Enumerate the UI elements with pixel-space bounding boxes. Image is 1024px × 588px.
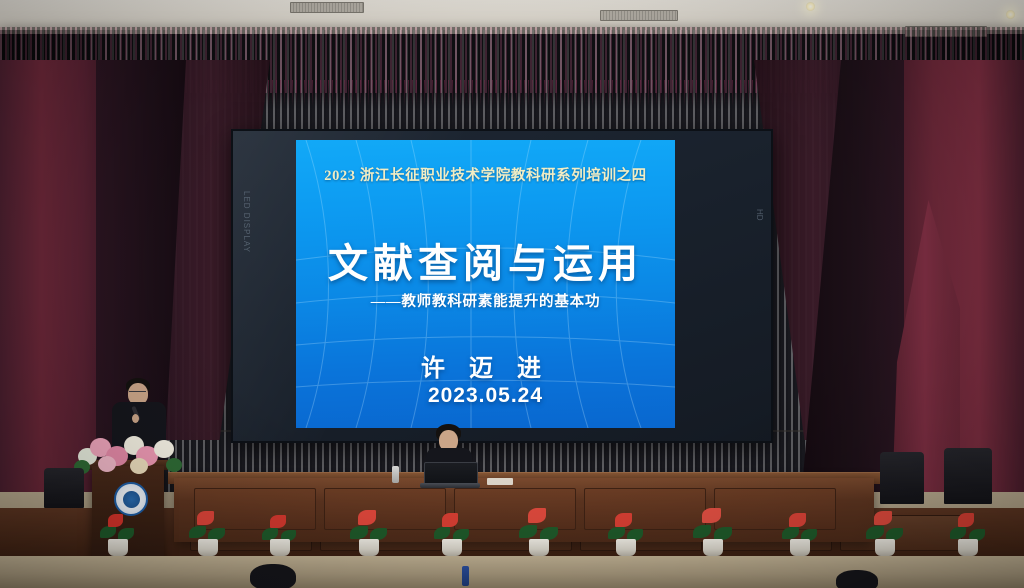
emblem-inner <box>123 491 140 508</box>
glasses-icon <box>129 391 146 396</box>
papers <box>487 478 513 485</box>
chair <box>44 468 84 508</box>
stage-plant <box>690 504 736 556</box>
presentation-scene: LED DISPLAY HD 2023 <box>0 0 1024 588</box>
stage-plant <box>430 508 474 556</box>
slide-date: 2023.05.24 <box>296 384 675 408</box>
blue-cup <box>462 566 469 586</box>
water-bottle <box>392 466 399 483</box>
speaker-hand <box>132 414 139 423</box>
slide-presenter-name: 许 迈 进 <box>296 348 675 383</box>
stage-plant <box>862 506 908 556</box>
stage-plant <box>186 506 230 556</box>
slide-subtitle: ——教师教科研素能提升的基本功 <box>296 290 675 311</box>
presentation-slide: 2023 浙江长征职业技术学院教科研系列培训之四 文献查阅与运用 ——教师教科研… <box>296 140 675 428</box>
laptop-base <box>420 483 480 488</box>
ceiling-vent <box>600 10 678 21</box>
stage-plant <box>946 508 990 556</box>
chair <box>880 452 924 504</box>
stage-plant <box>258 510 302 556</box>
stage-plant <box>516 504 562 556</box>
slide-header-line: 2023 浙江长征职业技术学院教科研系列培训之四 <box>296 164 675 185</box>
stage-plant <box>778 508 822 556</box>
stage-plant <box>604 508 648 556</box>
downlight-icon <box>806 2 815 11</box>
audience-member-head <box>250 564 296 588</box>
ceiling-vent <box>290 2 364 13</box>
panel-brand-right: HD <box>752 209 764 299</box>
panel-brand-left: LED DISPLAY <box>239 191 251 301</box>
stage-plant <box>96 508 140 556</box>
stage-plant <box>346 506 392 556</box>
podium-bouquet <box>74 432 182 476</box>
downlight-icon <box>1006 10 1015 19</box>
slide-main-title: 文献查阅与运用 <box>296 231 675 289</box>
audience-member-head <box>836 570 878 588</box>
chair <box>944 448 992 504</box>
